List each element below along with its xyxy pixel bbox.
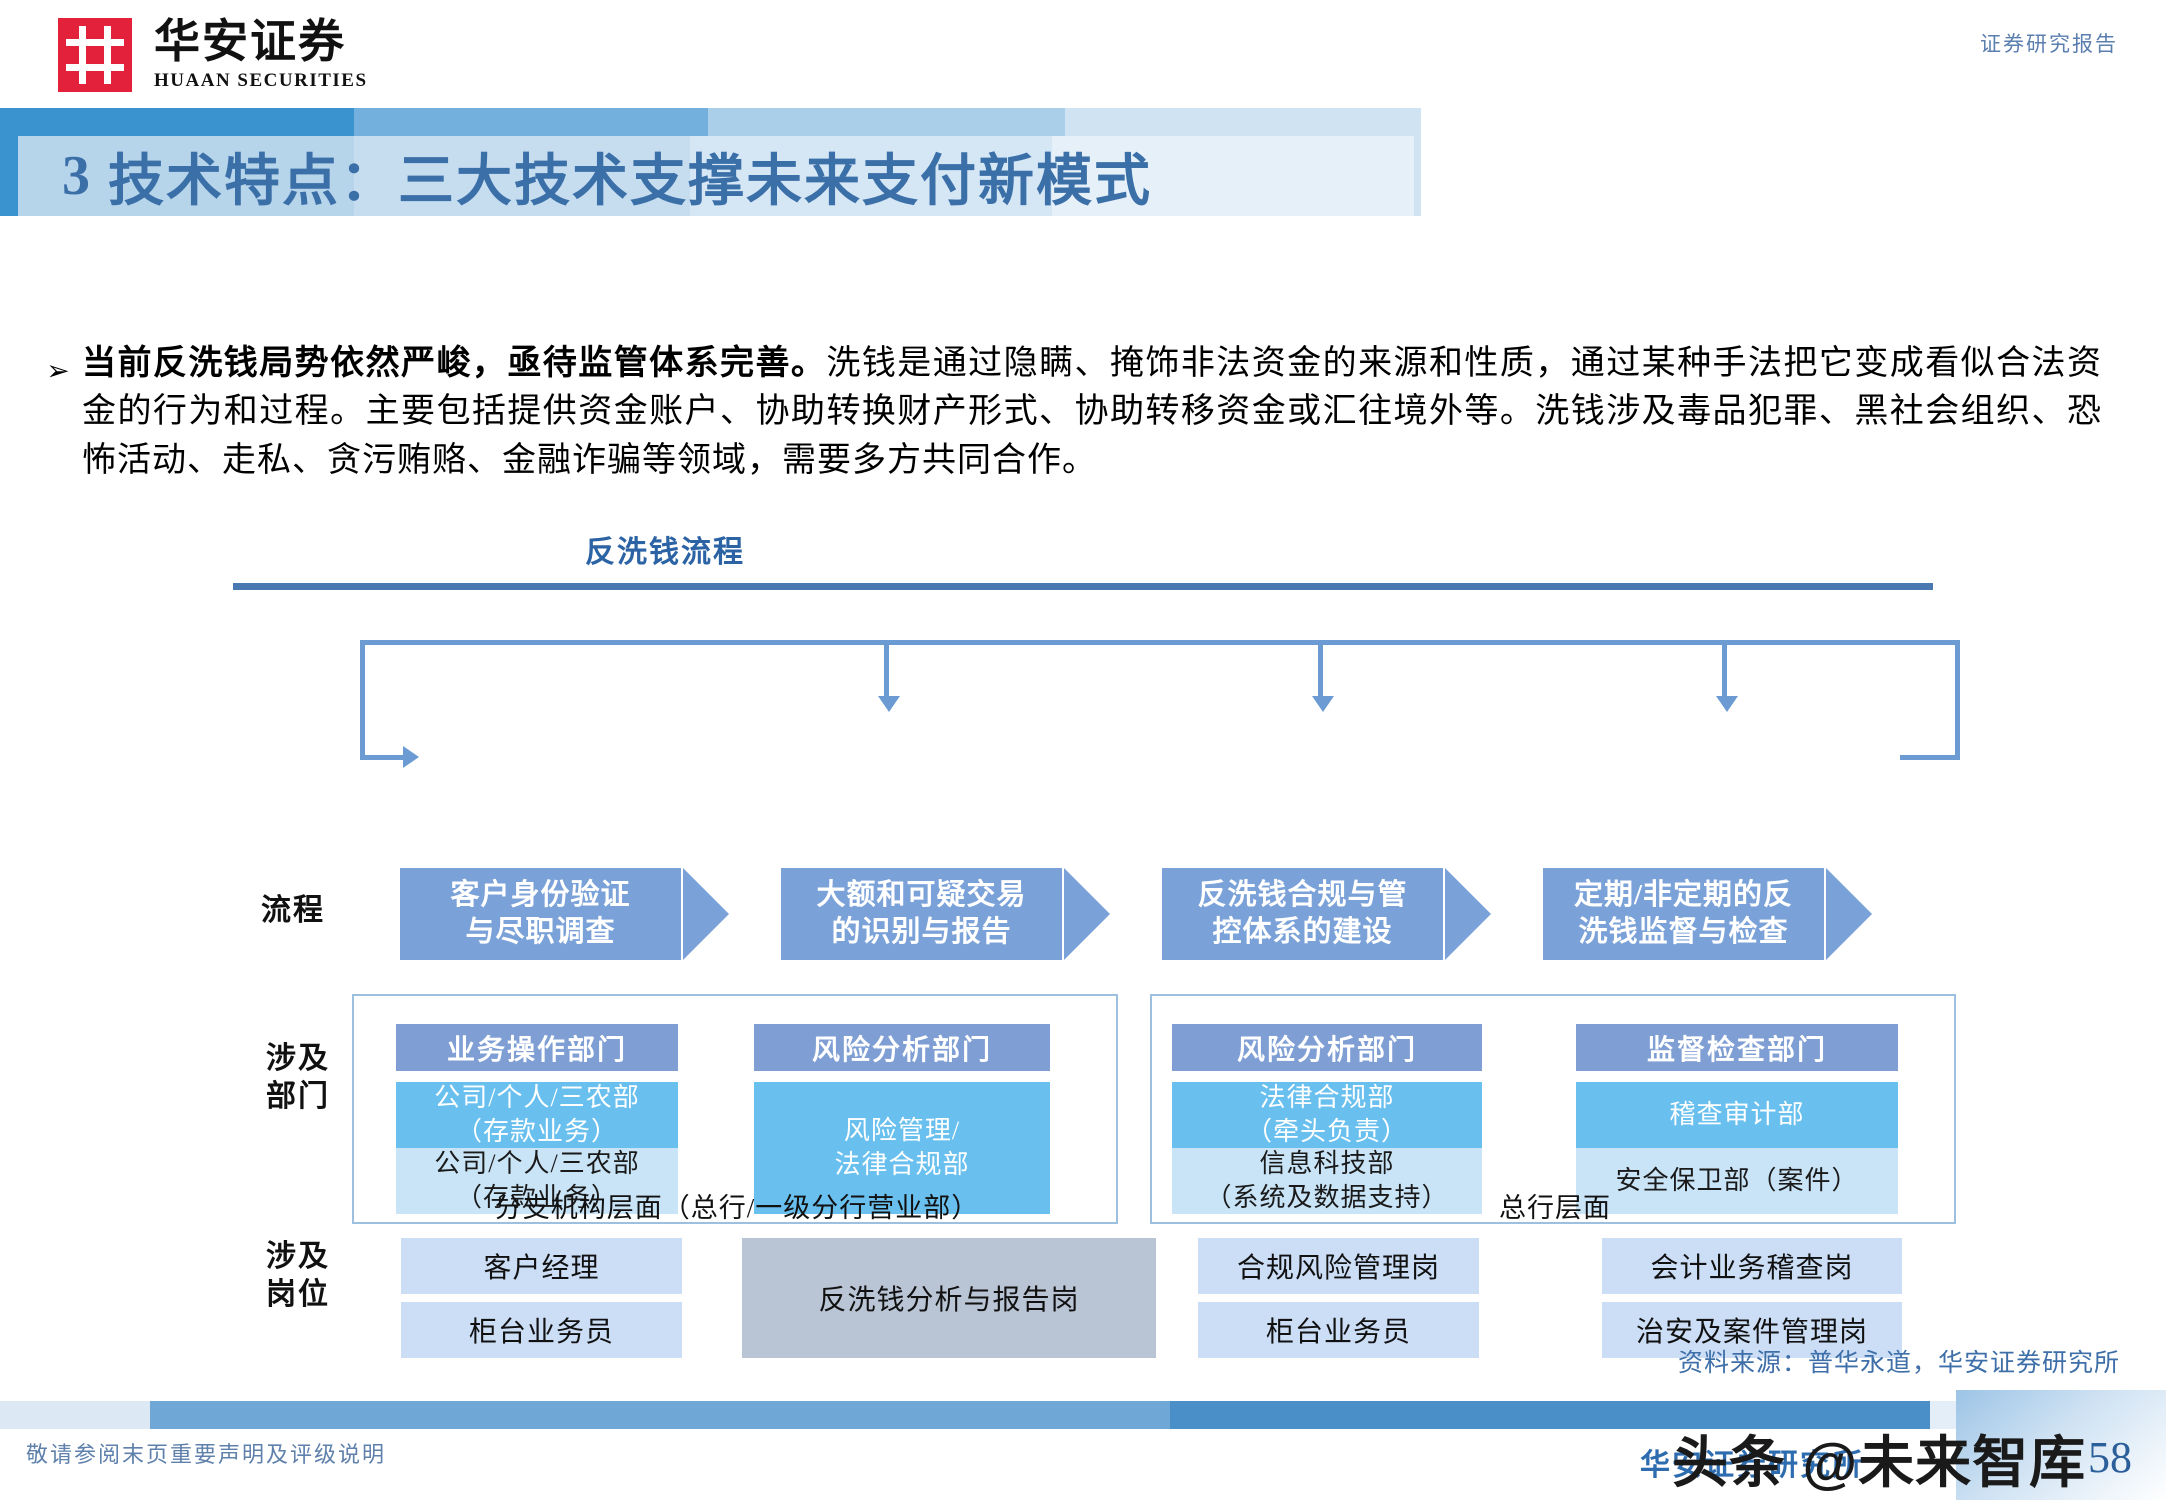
department-head-2: 风险分析部门 xyxy=(754,1024,1050,1071)
drop-arrow-step4-icon xyxy=(1716,696,1738,712)
row-label-departments: 涉及部门 xyxy=(228,1040,368,1115)
process-step-3-line1: 反洗钱合规与管 xyxy=(1197,877,1407,914)
footer-band-1 xyxy=(150,1401,1170,1429)
drop-line-step4 xyxy=(1722,640,1727,700)
page-title: 3 技术特点：三大技术支撑未来支付新模式 xyxy=(62,134,1152,218)
department-cell-2-1-line1: 风险管理/ xyxy=(834,1114,969,1148)
process-step-4-line2: 洗钱监督与检查 xyxy=(1574,914,1793,951)
post-item-4[interactable]: 合规风险管理岗 xyxy=(1198,1238,1479,1294)
process-step-3-line2: 控体系的建设 xyxy=(1197,914,1407,951)
process-step-4[interactable]: 定期/非定期的反 洗钱监督与检查 xyxy=(1543,868,1824,960)
department-cell-3-1-line1: 法律合规部 xyxy=(1246,1081,1408,1115)
process-step-2[interactable]: 大额和可疑交易 的识别与报告 xyxy=(781,868,1062,960)
huaan-logo-icon xyxy=(58,18,132,92)
process-step-3[interactable]: 反洗钱合规与管 控体系的建设 xyxy=(1162,868,1443,960)
diagram-rule xyxy=(233,583,1933,590)
drop-line-step3 xyxy=(1318,640,1323,700)
department-panel-branch: 业务操作部门 公司/个人/三农部 （存款业务） 公司/个人/三农部 （存款业务）… xyxy=(352,994,1118,1224)
diagram-title: 反洗钱流程 xyxy=(0,527,1330,571)
post-item-1[interactable]: 客户经理 xyxy=(401,1238,682,1294)
loop-top-line xyxy=(360,640,1960,645)
loop-right-line xyxy=(1955,640,1960,760)
process-arrow-3-icon xyxy=(1445,868,1491,960)
process-step-1-line2: 与尽职调查 xyxy=(450,914,630,951)
department-head-4: 监督检查部门 xyxy=(1576,1024,1898,1071)
department-cell-3-2-line1: 信息科技部 xyxy=(1205,1147,1448,1181)
process-arrow-2-icon xyxy=(1064,868,1110,960)
department-panel-headoffice: 风险分析部门 法律合规部 （牵头负责） 信息科技部 （系统及数据支持） 监督检查… xyxy=(1150,994,1956,1224)
department-cell-1-1: 公司/个人/三农部 （存款业务） xyxy=(396,1082,678,1148)
drop-arrow-step2-icon xyxy=(878,696,900,712)
source-note: 资料来源：普华永道，华安证券研究所 xyxy=(1678,1343,2120,1379)
loop-entry-line xyxy=(360,755,405,760)
footer-disclaimer: 敬请参阅末页重要声明及评级说明 xyxy=(26,1437,386,1469)
department-panel-2-footer: 总行层面 xyxy=(1152,1186,1958,1225)
post-item-6[interactable]: 会计业务稽查岗 xyxy=(1602,1238,1902,1294)
post-item-3[interactable]: 反洗钱分析与报告岗 xyxy=(742,1238,1156,1358)
department-cell-1-1-line1: 公司/个人/三农部 xyxy=(434,1081,639,1115)
section-number: 3 xyxy=(62,144,92,208)
section-title: 技术特点：三大技术支撑未来支付新模式 xyxy=(108,136,1152,217)
footer-band-0 xyxy=(0,1401,150,1429)
process-step-1-line1: 客户身份验证 xyxy=(450,877,630,914)
bullet-arrow-icon: ➢ xyxy=(34,340,82,485)
process-arrow-1-icon xyxy=(683,868,729,960)
department-cell-3-1-line2: （牵头负责） xyxy=(1246,1115,1408,1149)
department-cell-4-1: 稽查审计部 xyxy=(1576,1082,1898,1148)
slide-page: 华安证券 HUAAN SECURITIES 证券研究报告 3 技术特点：三大技术… xyxy=(0,0,2166,1500)
department-panel-1-footer: 分支机构层面（总行/一级分行营业部） xyxy=(354,1186,1120,1225)
row-label-posts: 涉及岗位 xyxy=(228,1238,368,1313)
row-label-process: 流程 xyxy=(228,892,358,930)
department-head-1: 业务操作部门 xyxy=(396,1024,678,1071)
department-head-3: 风险分析部门 xyxy=(1172,1024,1482,1071)
department-cell-3-1: 法律合规部 （牵头负责） xyxy=(1172,1082,1482,1148)
department-cell-1-2-line1: 公司/个人/三农部 xyxy=(434,1147,639,1181)
process-step-1[interactable]: 客户身份验证 与尽职调查 xyxy=(400,868,681,960)
aml-flow-diagram: 流程 客户身份验证 与尽职调查 大额和可疑交易 的识别与报告 反洗钱合规与管 xyxy=(0,596,2166,1336)
post-item-2[interactable]: 柜台业务员 xyxy=(401,1302,682,1358)
brand-name-cn: 华安证券 xyxy=(154,18,368,66)
loop-return-line xyxy=(1900,755,1960,760)
brand-text: 华安证券 HUAAN SECURITIES xyxy=(154,18,368,92)
process-row: 客户身份验证 与尽职调查 大额和可疑交易 的识别与报告 反洗钱合规与管 控体系的… xyxy=(400,868,2000,960)
process-step-2-line1: 大额和可疑交易 xyxy=(816,877,1026,914)
body-lead: 当前反洗钱局势依然严峻，亟待监管体系完善。 xyxy=(82,345,826,382)
process-step-4-line1: 定期/非定期的反 xyxy=(1574,877,1793,914)
body-bullet: ➢ 当前反洗钱局势依然严峻，亟待监管体系完善。洗钱是通过隐瞒、掩饰非法资金的来源… xyxy=(34,340,2134,485)
watermark: 头条 @未来智库 xyxy=(1672,1418,2086,1499)
brand-logo: 华安证券 HUAAN SECURITIES xyxy=(58,18,368,92)
body-paragraph: 当前反洗钱局势依然严峻，亟待监管体系完善。洗钱是通过隐瞒、掩饰非法资金的来源和性… xyxy=(82,340,2102,485)
report-tag: 证券研究报告 xyxy=(1980,28,2118,58)
brand-name-en: HUAAN SECURITIES xyxy=(154,70,368,92)
loop-left-line xyxy=(360,640,365,760)
department-cell-2-1-line2: 法律合规部 xyxy=(834,1148,969,1182)
post-item-5[interactable]: 柜台业务员 xyxy=(1198,1302,1479,1358)
banner-left-edge xyxy=(0,108,18,216)
department-cell-1-1-line2: （存款业务） xyxy=(434,1115,639,1149)
loop-entry-arrow-icon xyxy=(403,746,419,768)
watermark-text: 头条 @未来智库 xyxy=(1672,1418,2086,1499)
department-cell-4-1-line1: 稽查审计部 xyxy=(1669,1098,1804,1132)
drop-arrow-step3-icon xyxy=(1312,696,1334,712)
process-step-2-line2: 的识别与报告 xyxy=(816,914,1026,951)
process-arrow-4-icon xyxy=(1826,868,1872,960)
page-number: 58 xyxy=(2088,1432,2132,1483)
drop-line-step2 xyxy=(884,640,889,700)
